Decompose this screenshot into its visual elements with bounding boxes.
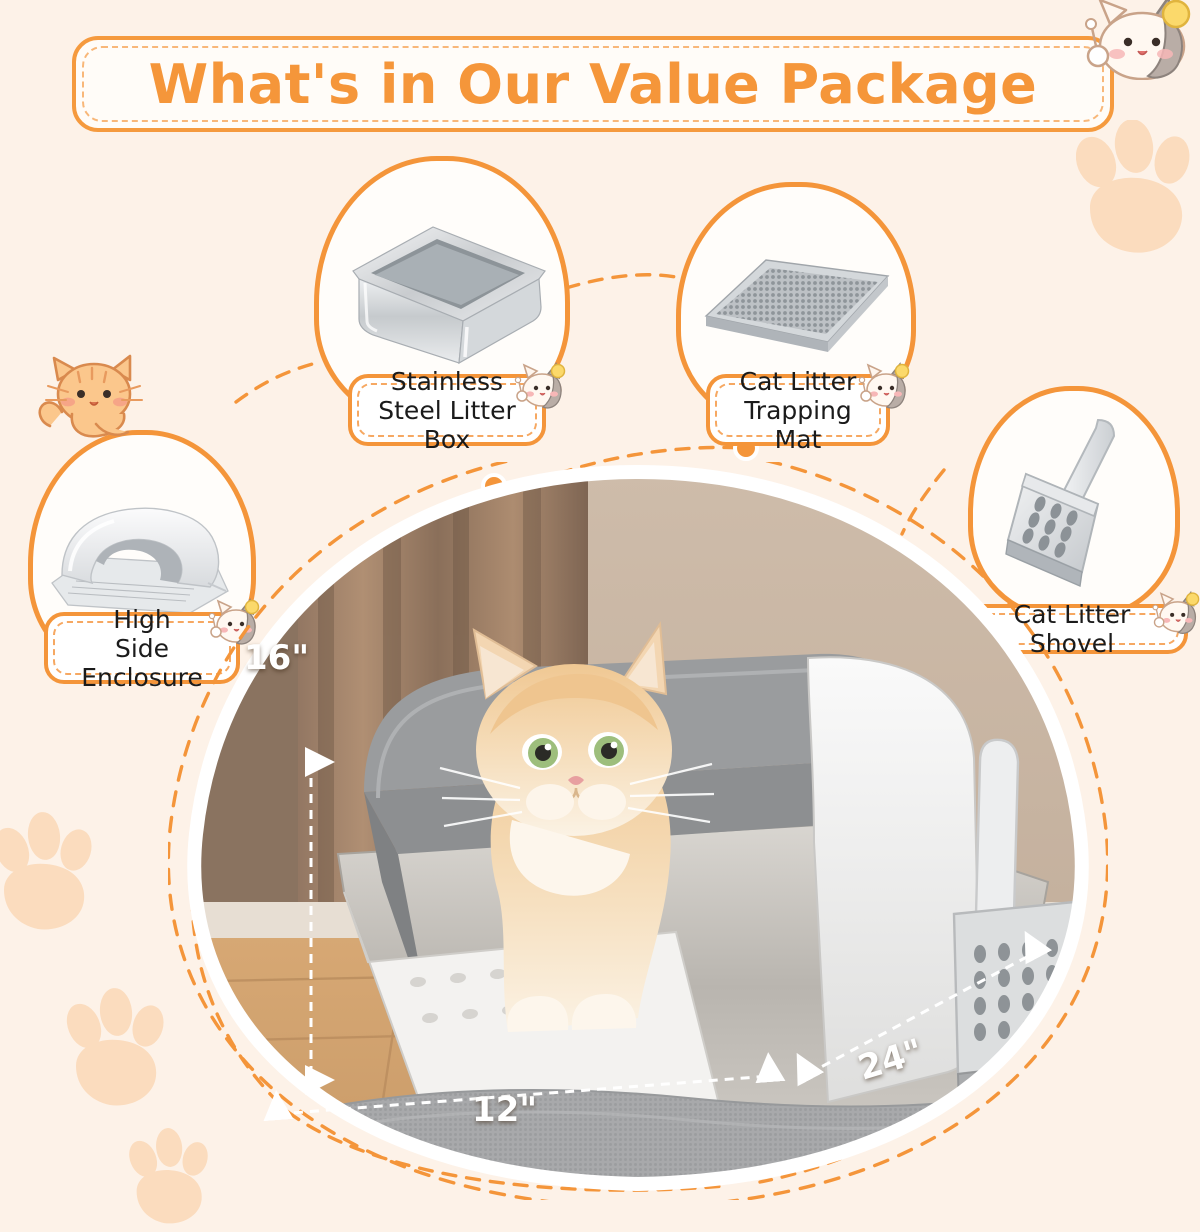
orange-tabby-cat-sticker	[34, 352, 156, 456]
feature-label-cat-litter-trapping-mat[interactable]: Cat Litter Trapping Mat	[706, 374, 890, 446]
feature-label-high-side-enclosure[interactable]: High Side Enclosure	[44, 612, 240, 684]
infographic-canvas: What's in Our Value Package	[0, 0, 1200, 1200]
dimension-arrows	[168, 462, 1108, 1200]
page-title-banner: What's in Our Value Package	[72, 36, 1114, 132]
feature-label-text: High Side Enclosure	[62, 605, 222, 692]
hero-product-photo: 16" 12" 24"	[168, 462, 1108, 1200]
page-title: What's in Our Value Package	[149, 53, 1038, 116]
feature-label-stainless-steel-litter-box[interactable]: Stainless Steel Litter Box	[348, 374, 546, 446]
feature-label-text: Stainless Steel Litter Box	[366, 367, 528, 454]
dimension-width-label: 12"	[472, 1090, 537, 1130]
feature-label-text: Cat Litter Shovel	[974, 600, 1170, 658]
calico-cat-sticker	[1056, 0, 1196, 80]
feature-label-text: Cat Litter Trapping Mat	[724, 367, 872, 454]
feature-label-cat-litter-shovel[interactable]: Cat Litter Shovel	[956, 604, 1188, 654]
dimension-height-label: 16"	[244, 638, 309, 678]
